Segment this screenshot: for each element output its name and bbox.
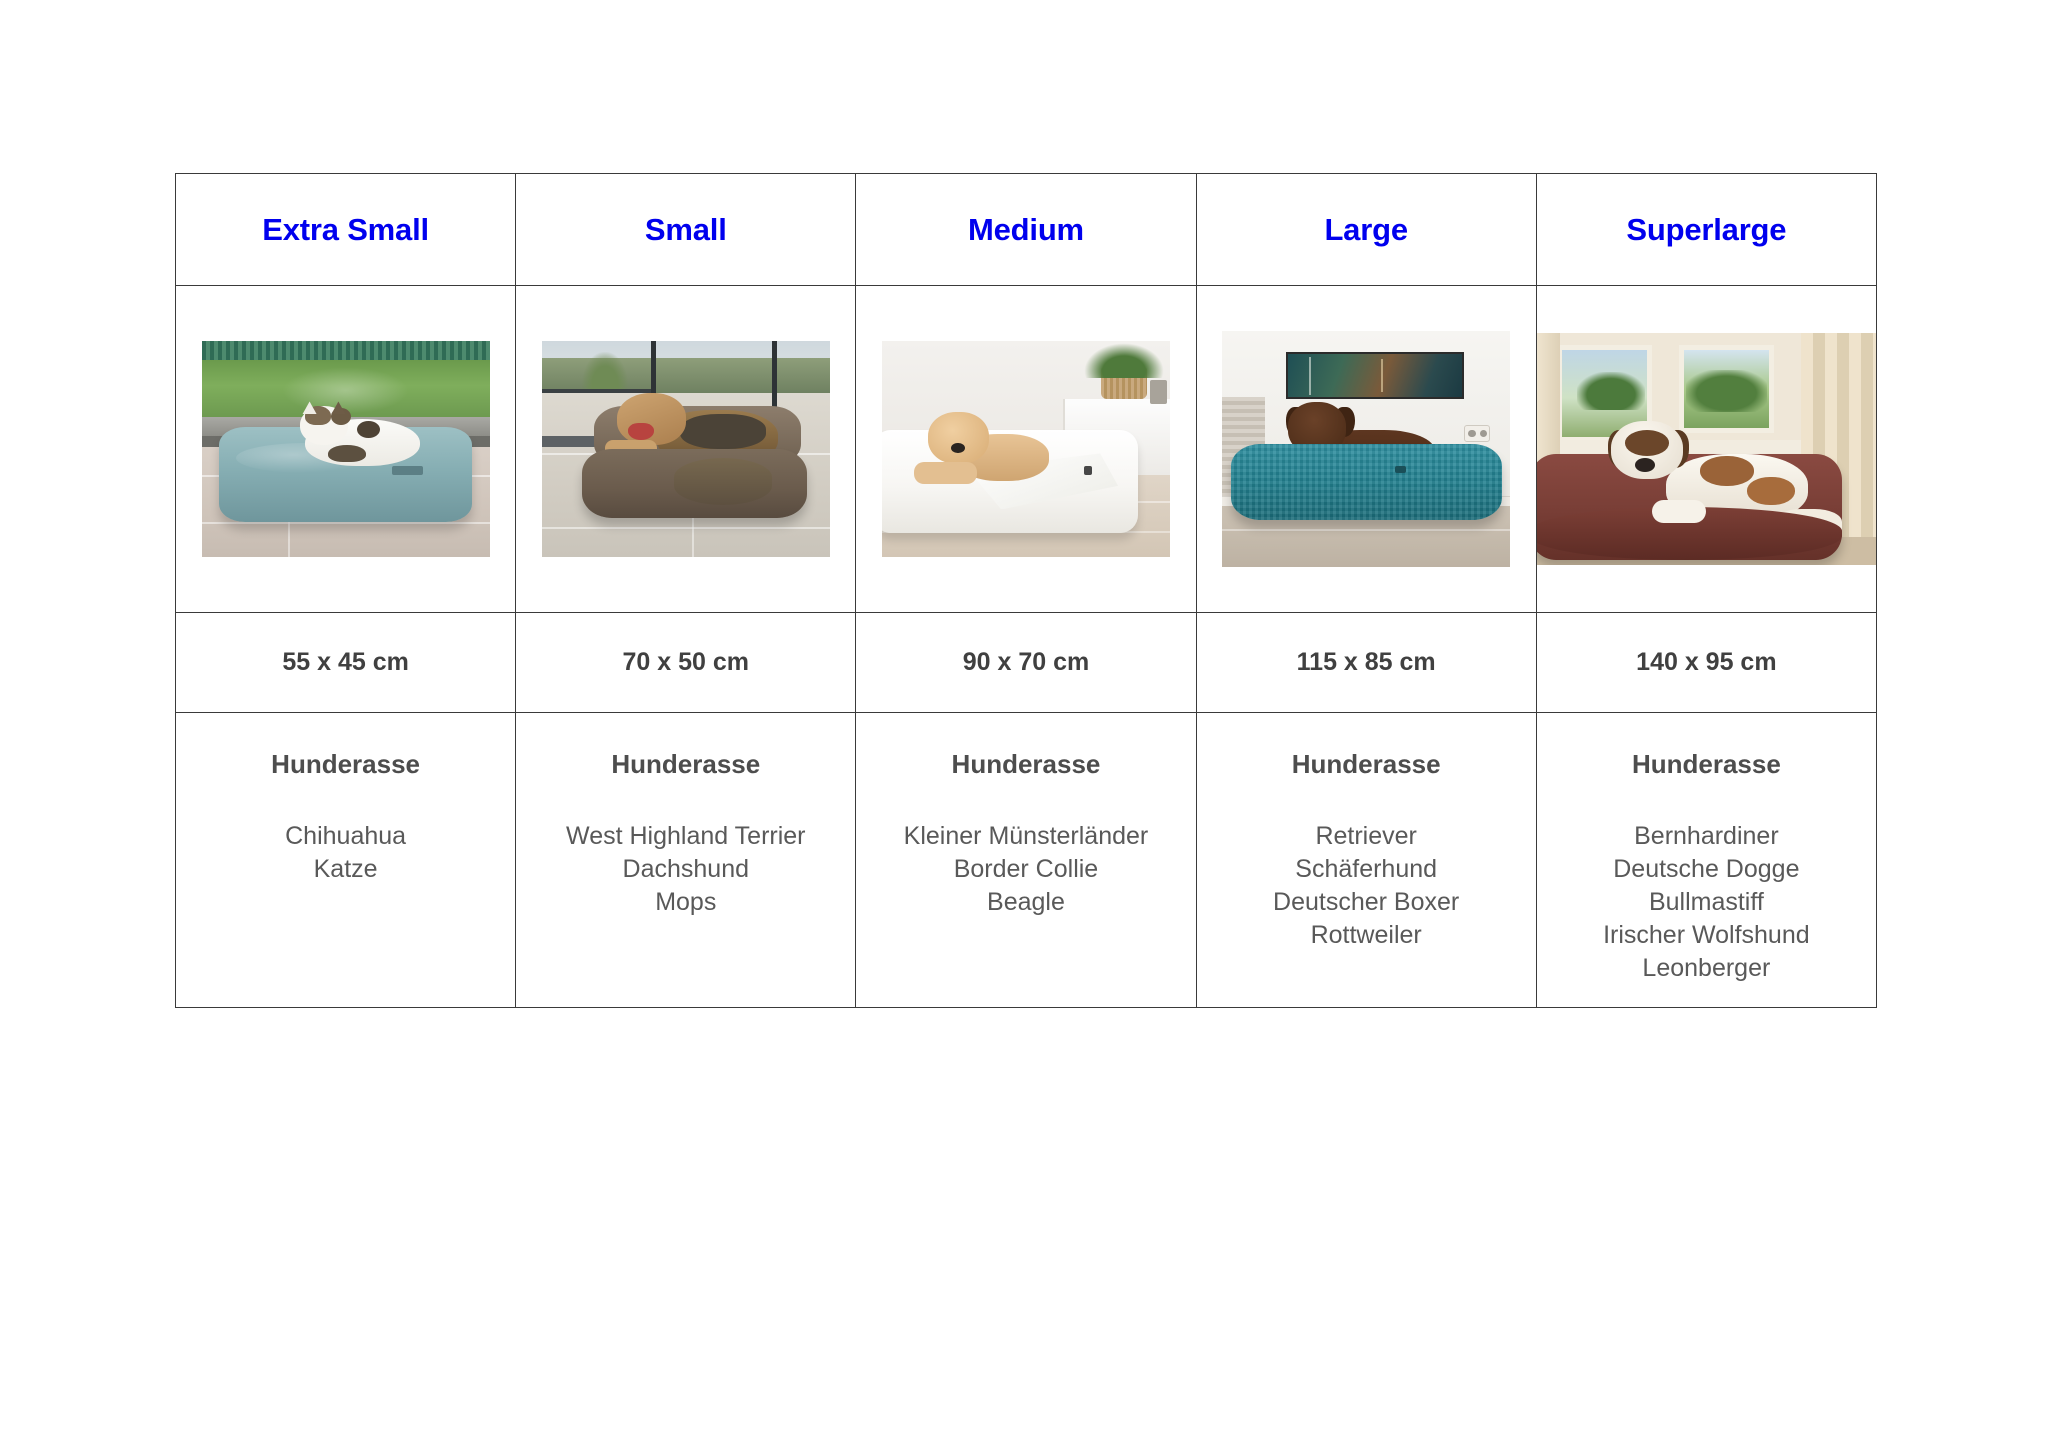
breed-item: Dachshund (516, 853, 855, 886)
cat-fur-patch (328, 445, 365, 462)
size-cell-superlarge: 140 x 95 cm (1536, 613, 1876, 713)
column-header-label: Medium (856, 214, 1195, 245)
breed-block: Hunderasse West Highland Terrier Dachshu… (516, 713, 855, 919)
dog-fur-patch (1747, 477, 1794, 505)
tile-seam (202, 522, 490, 524)
header-cell-small: Small (516, 174, 856, 286)
image-wrap (1197, 286, 1536, 612)
table-breed-row: Hunderasse Chihuahua Katze Hunderasse We… (176, 713, 1877, 1008)
dog-bed-bolster (674, 458, 772, 506)
table-header-row: Extra Small Small Medium Large Superlarg… (176, 174, 1877, 286)
garden-hedge (1686, 370, 1767, 412)
product-photo-large (1222, 331, 1510, 567)
breed-cell-large: Hunderasse Retriever Schäferhund Deutsch… (1196, 713, 1536, 1008)
image-cell-large (1196, 286, 1536, 613)
tile-seam (542, 527, 830, 529)
column-header-label: Superlarge (1537, 214, 1876, 245)
dog-front-paws (914, 462, 977, 484)
breed-block: Hunderasse Kleiner Münsterländer Border … (856, 713, 1195, 919)
green-plant (1084, 343, 1165, 378)
brand-label (1084, 466, 1093, 475)
socket-hole (1468, 430, 1475, 437)
breed-section-title: Hunderasse (516, 749, 855, 780)
breed-block: Hunderasse Retriever Schäferhund Deutsch… (1197, 713, 1536, 952)
column-header-label: Extra Small (176, 214, 515, 245)
fence-layer (202, 341, 490, 360)
breed-block: Hunderasse Chihuahua Katze (176, 713, 515, 886)
breed-item: Bullmastiff (1537, 886, 1876, 919)
header-cell-extra-small: Extra Small (176, 174, 516, 286)
product-photo-extra-small (202, 341, 490, 557)
breed-item: Bernhardiner (1537, 820, 1876, 853)
product-photo-medium (882, 341, 1170, 557)
breed-item: Beagle (856, 886, 1195, 919)
image-wrap (856, 286, 1195, 612)
breed-list: Kleiner Münsterländer Border Collie Beag… (856, 820, 1195, 919)
breed-section-title: Hunderasse (856, 749, 1195, 780)
breed-item: Deutsche Dogge (1537, 853, 1876, 886)
breed-item: Rottweiler (1197, 919, 1536, 952)
bed-dimensions-label: 140 x 95 cm (1537, 648, 1876, 677)
breed-list: Retriever Schäferhund Deutscher Boxer Ro… (1197, 820, 1536, 952)
candle-holder (1150, 380, 1167, 404)
artwork-detail (1309, 357, 1311, 395)
header-cell-superlarge: Superlarge (1536, 174, 1876, 286)
image-cell-superlarge (1536, 286, 1876, 613)
table-size-row: 55 x 45 cm 70 x 50 cm 90 x 70 cm 115 x 8… (176, 613, 1877, 713)
dog-head (928, 412, 988, 464)
product-photo-superlarge (1537, 333, 1876, 565)
page-canvas: Extra Small Small Medium Large Superlarg… (0, 0, 2048, 1448)
dog-fur-patch (1700, 456, 1754, 486)
breed-item: Katze (176, 853, 515, 886)
waffle-texture (1231, 444, 1502, 520)
header-cell-large: Large (1196, 174, 1536, 286)
framed-artwork (1286, 352, 1465, 399)
image-cell-small (516, 286, 856, 613)
breed-cell-extra-small: Hunderasse Chihuahua Katze (176, 713, 516, 1008)
breed-cell-small: Hunderasse West Highland Terrier Dachshu… (516, 713, 856, 1008)
image-cell-medium (856, 286, 1196, 613)
breed-cell-superlarge: Hunderasse Bernhardiner Deutsche Dogge B… (1536, 713, 1876, 1008)
brand-label (392, 466, 424, 475)
size-cell-small: 70 x 50 cm (516, 613, 856, 713)
breed-item: Retriever (1197, 820, 1536, 853)
image-cell-extra-small (176, 286, 516, 613)
bed-dimensions-label: 115 x 85 cm (1197, 648, 1536, 677)
size-cell-extra-small: 55 x 45 cm (176, 613, 516, 713)
column-header-label: Large (1197, 214, 1536, 245)
breed-item: Schäferhund (1197, 853, 1536, 886)
artwork-detail (1381, 359, 1383, 392)
breed-list: Chihuahua Katze (176, 820, 515, 886)
breed-item: Border Collie (856, 853, 1195, 886)
dog-head (617, 393, 686, 445)
image-wrap (176, 286, 515, 612)
breed-section-title: Hunderasse (176, 749, 515, 780)
breed-item: West Highland Terrier (516, 820, 855, 853)
bed-dimensions-label: 55 x 45 cm (176, 648, 515, 677)
image-wrap (1537, 286, 1876, 612)
bed-dimensions-label: 90 x 70 cm (856, 648, 1195, 677)
image-wrap (516, 286, 855, 612)
breed-item: Deutscher Boxer (1197, 886, 1536, 919)
breed-section-title: Hunderasse (1197, 749, 1536, 780)
dog-face-mask (1625, 430, 1669, 456)
garden-hedge (1577, 372, 1645, 409)
breed-block: Hunderasse Bernhardiner Deutsche Dogge B… (1537, 713, 1876, 985)
breed-list: Bernhardiner Deutsche Dogge Bullmastiff … (1537, 820, 1876, 985)
brand-label (1395, 466, 1407, 473)
size-cell-medium: 90 x 70 cm (856, 613, 1196, 713)
dog-front-paws (1652, 500, 1706, 523)
breed-cell-medium: Hunderasse Kleiner Münsterländer Border … (856, 713, 1196, 1008)
bed-dimensions-label: 70 x 50 cm (516, 648, 855, 677)
breed-section-title: Hunderasse (1537, 749, 1876, 780)
dog-saddle-fur (680, 414, 766, 449)
breed-item: Kleiner Münsterländer (856, 820, 1195, 853)
breed-item: Mops (516, 886, 855, 919)
breed-item: Irischer Wolfshund (1537, 919, 1876, 952)
window-frame (542, 389, 651, 393)
column-header-label: Small (516, 214, 855, 245)
glass-reflection (282, 367, 409, 415)
breed-list: West Highland Terrier Dachshund Mops (516, 820, 855, 919)
product-photo-small (542, 341, 830, 557)
plank-seam (1222, 529, 1510, 531)
size-cell-large: 115 x 85 cm (1196, 613, 1536, 713)
table-image-row (176, 286, 1877, 613)
breed-item: Leonberger (1537, 952, 1876, 985)
breed-item: Chihuahua (176, 820, 515, 853)
dog-bed-size-table: Extra Small Small Medium Large Superlarg… (175, 173, 1877, 1008)
header-cell-medium: Medium (856, 174, 1196, 286)
